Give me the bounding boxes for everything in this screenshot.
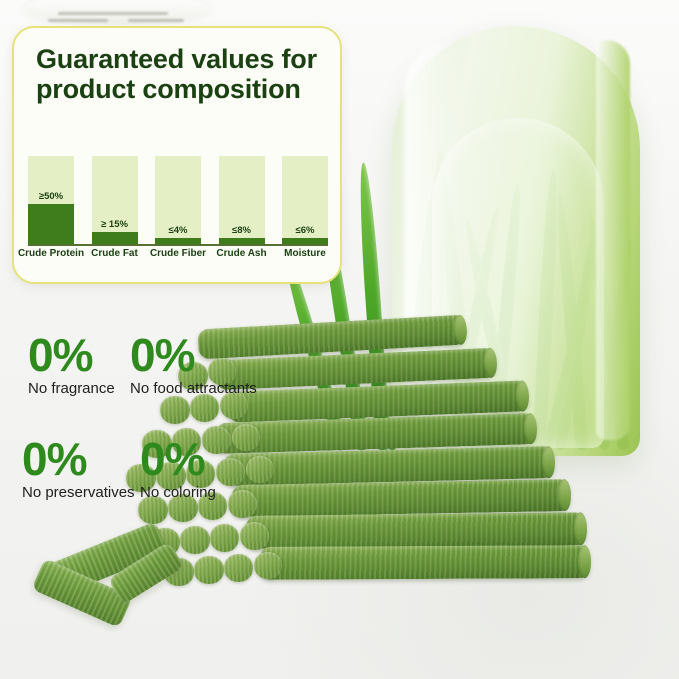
chart-bar-track: ≤8% [219,156,265,244]
claim-no-food-attractants: 0% No food attractants [130,334,257,397]
hay-stick-end [254,552,282,579]
hay-stick-end [216,458,245,486]
hay-stick-end [228,490,257,518]
chart-value-label: ≤4% [169,225,188,236]
hay-stick-end [232,424,260,451]
hay-stick-end [210,524,239,552]
hay-stick [246,512,586,549]
chart-axis-line [28,244,328,246]
chart-bar [92,232,138,244]
chart-category-label: Moisture [270,248,340,259]
hay-stick-end [190,394,219,422]
claim-value: 0% [28,334,115,378]
chart-value-label: ≥50% [39,191,63,202]
chart-bar-track: ≤4% [155,156,201,244]
claim-value: 0% [130,334,257,378]
chart-bar-column: ≤6% [282,140,328,244]
hay-stick-end [194,556,224,584]
hay-stick-end [180,526,210,554]
hay-stick-end [160,396,190,424]
guaranteed-values-card: Guaranteed values for product compositio… [12,26,342,284]
blurred-package-text-line [58,12,168,15]
claim-value: 0% [140,438,216,482]
composition-bar-chart: ≥50%≥ 15%≤4%≤8%≤6% Crude ProteinCrude Fa… [28,140,328,270]
hay-stick-end [246,456,274,483]
hay-stick [232,479,571,517]
chart-bar-column: ≥50% [28,140,74,244]
chart-bar-track: ≥ 15% [92,156,138,244]
chart-bar [28,204,74,244]
chart-category-label: Crude Protein [16,248,86,259]
hay-stick-end [224,554,253,582]
chart-plot-area: ≥50%≥ 15%≤4%≤8%≤6% [28,140,328,244]
chart-bar-track: ≤6% [282,156,328,244]
hay-stick [260,545,590,580]
claim-no-preservatives: 0% No preservatives [22,438,135,501]
chart-bar-track: ≥50% [28,156,74,244]
chart-value-label: ≥ 15% [101,219,128,230]
claim-label: No coloring [140,484,216,501]
claim-no-coloring: 0% No coloring [140,438,216,501]
chart-value-label: ≤6% [296,225,315,236]
chart-category-labels: Crude ProteinCrude FatCrude FiberCrude A… [28,248,328,268]
chart-bar-column: ≤4% [155,140,201,244]
chart-category-label: Crude Ash [207,248,277,259]
chart-value-label: ≤8% [232,225,251,236]
chart-category-label: Crude Fat [80,248,150,259]
blurred-package-text-line [128,19,184,22]
claim-label: No food attractants [130,380,257,397]
chart-category-label: Crude Fiber [143,248,213,259]
claim-value: 0% [22,438,135,482]
claim-label: No preservatives [22,484,135,501]
chart-bar-column: ≥ 15% [92,140,138,244]
claim-no-fragrance: 0% No fragrance [28,334,115,397]
card-title: Guaranteed values for product compositio… [36,44,320,104]
claim-label: No fragrance [28,380,115,397]
blurred-package-text-line [48,19,108,22]
chart-bar-column: ≤8% [219,140,265,244]
hay-stick-end [240,522,269,550]
